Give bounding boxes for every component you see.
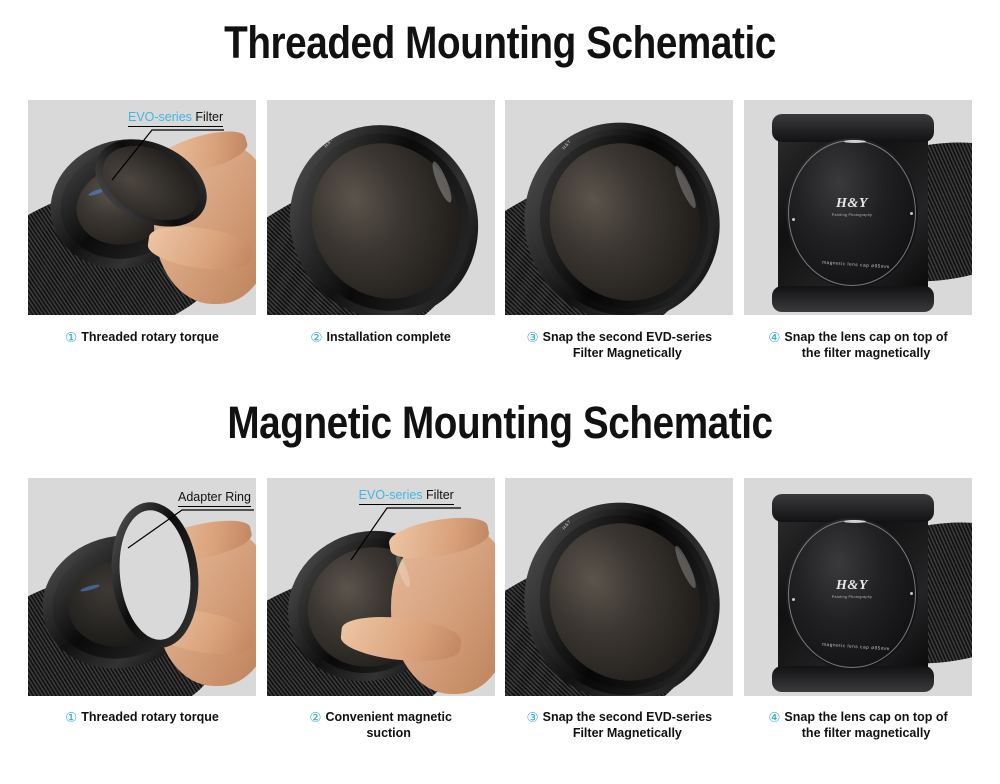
caption-line: Snap the lens cap on top of [784,710,947,726]
photo-filter-installed: H&Y [267,100,495,315]
panel-threaded-step-1: EVO-series Filter [28,100,256,315]
panel-magnetic-step-3: H&Y [505,478,733,696]
panel-magnetic-step-1: Adapter Ring [28,478,256,696]
caption-line: Threaded rotary torque [81,710,219,726]
callout-leader-line [126,506,256,566]
cap-tagline: Painting Photography [786,595,918,599]
callout-cyan-text: EVO-series [128,110,192,124]
cap-brand: H&Y [786,578,918,594]
caption-line: the filter magnetically [784,346,947,362]
caption-row-threaded: ① Threaded rotary torque ② Installation … [28,330,972,361]
callout-cyan-text: EVO-series [359,488,423,502]
caption-number: ① [65,330,77,346]
caption-threaded-step-1: ① Threaded rotary torque [28,330,256,361]
panel-threaded-step-2: H&Y [267,100,495,315]
caption-threaded-step-2: ② Installation complete [267,330,495,361]
callout-leader-line [343,504,463,572]
caption-line: Snap the second EVD-series [543,330,713,346]
panel-threaded-step-4: H&Y Painting Photography magnetic lens c… [744,100,972,315]
panel-magnetic-step-4: H&Y Painting Photography magnetic lens c… [744,478,972,696]
caption-threaded-step-4: ④ Snap the lens cap on top of the filter… [744,330,972,361]
caption-number: ① [65,710,77,726]
caption-line: Threaded rotary torque [81,330,219,346]
caption-line: suction [326,726,452,742]
cap-brand: H&Y [786,196,918,212]
caption-number: ③ [527,710,539,726]
caption-magnetic-step-1: ① Threaded rotary torque [28,710,256,741]
caption-number: ④ [768,330,780,346]
section-title-magnetic: Magnetic Mounting Schematic [70,400,930,445]
caption-number: ② [309,710,321,726]
panel-row-threaded: EVO-series Filter H&Y [28,100,972,315]
photo-lens-hood-cap: H&Y Painting Photography magnetic lens c… [744,100,972,315]
caption-line: Installation complete [327,330,451,346]
callout-adapter-ring: Adapter Ring [178,488,251,507]
caption-number: ④ [768,710,780,726]
panel-magnetic-step-2: EVO-series Filter [267,478,495,696]
caption-line: Convenient magnetic [326,710,452,726]
caption-line: Filter Magnetically [543,346,713,362]
panel-threaded-step-3: H&Y [505,100,733,315]
panel-row-magnetic: Adapter Ring EVO-series [28,478,972,696]
callout-black-text: Filter [426,488,454,502]
caption-line: Snap the second EVD-series [543,710,713,726]
callout-leader-line [106,126,226,196]
caption-line: the filter magnetically [784,726,947,742]
callout-evo-series-filter: EVO-series Filter [359,486,454,505]
photo-lens-hood-cap: H&Y Painting Photography magnetic lens c… [744,478,972,696]
caption-line: Snap the lens cap on top of [784,330,947,346]
caption-number: ③ [527,330,539,346]
caption-magnetic-step-2: ② Convenient magnetic suction [267,710,495,741]
caption-magnetic-step-4: ④ Snap the lens cap on top of the filter… [744,710,972,741]
callout-black-text: Adapter Ring [178,490,251,504]
caption-number: ② [310,330,322,346]
caption-magnetic-step-3: ③ Snap the second EVD-series Filter Magn… [505,710,733,741]
section-title-threaded: Threaded Mounting Schematic [70,20,930,65]
caption-threaded-step-3: ③ Snap the second EVD-series Filter Magn… [505,330,733,361]
photo-second-filter-stacked: H&Y [505,100,733,315]
caption-line: Filter Magnetically [543,726,713,742]
cap-tagline: Painting Photography [786,213,918,217]
caption-row-magnetic: ① Threaded rotary torque ② Convenient ma… [28,710,972,741]
photo-second-filter-stacked: H&Y [505,478,733,696]
callout-black-text: Filter [195,110,223,124]
callout-evo-series-filter: EVO-series Filter [128,108,223,127]
